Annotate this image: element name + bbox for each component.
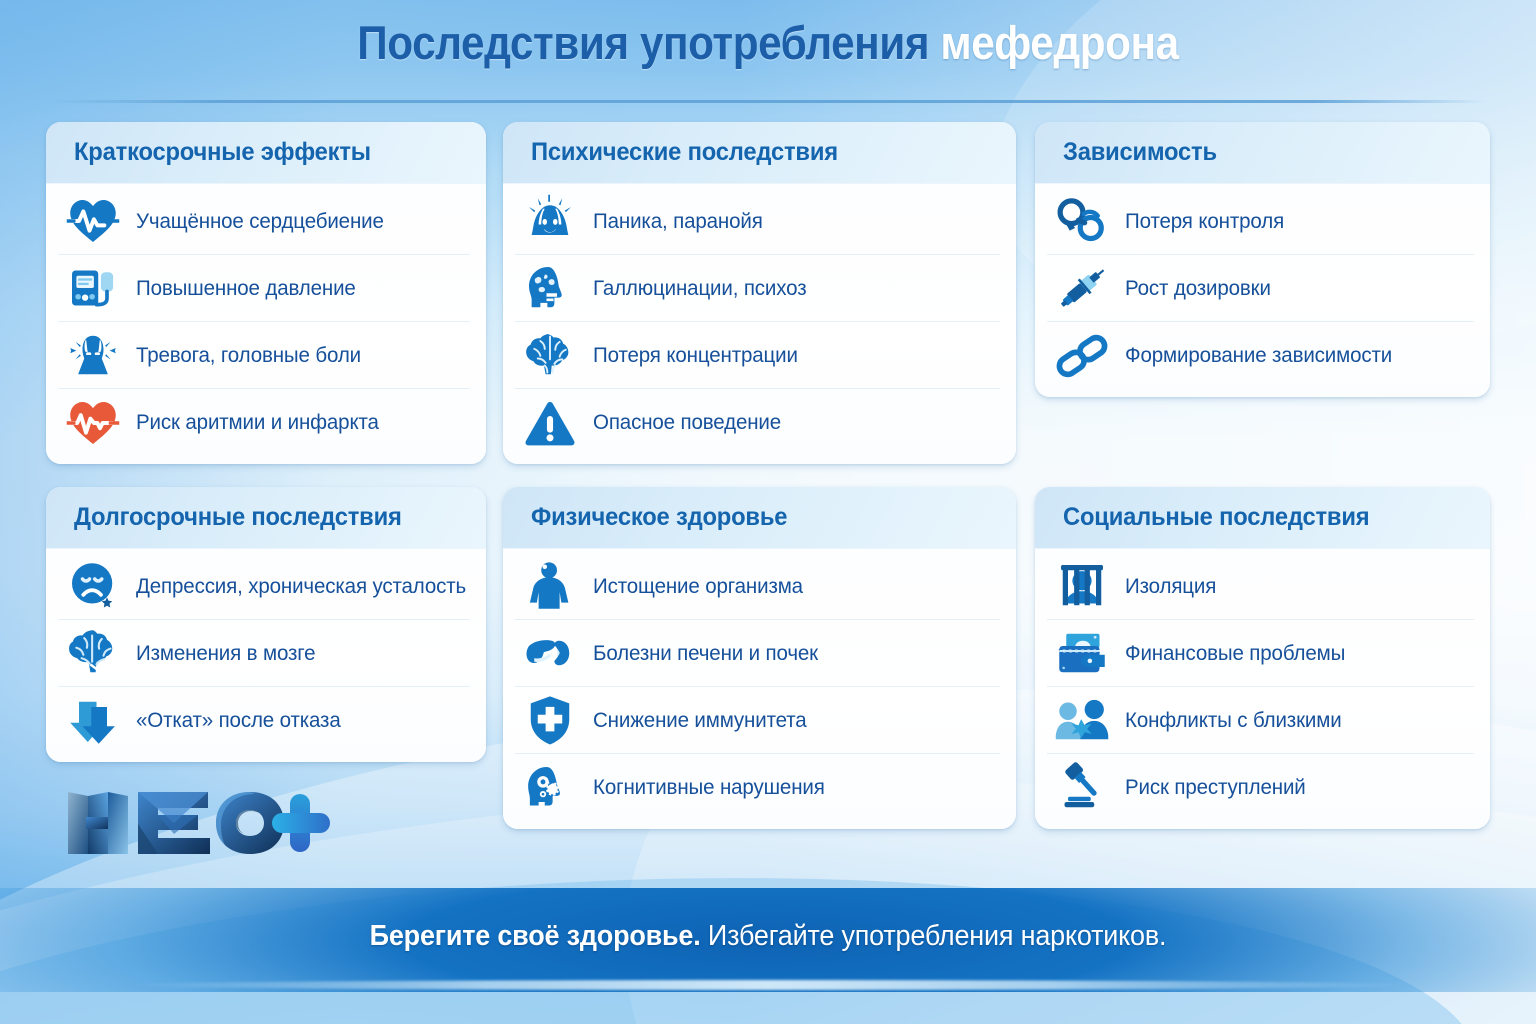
footer-message-regular: Избегайте употребления наркотиков.	[701, 920, 1167, 952]
list-item[interactable]: Учащённое сердцебиение	[58, 188, 470, 255]
list-item[interactable]: Повышенное давление	[58, 255, 470, 322]
shield-cross-icon	[519, 689, 581, 751]
card-physical-header: Физическое здоровье	[503, 487, 1016, 549]
list-item[interactable]: Опасное поведение	[515, 389, 1000, 456]
card-long-term: Долгосрочные последствия Депрессия, хрон…	[46, 487, 486, 762]
blood-pressure-monitor-icon	[62, 257, 124, 319]
list-item[interactable]: «Откат» после отказа	[58, 687, 470, 754]
footer-gloss-line	[123, 980, 1413, 990]
card-social: Социальные последствия Изоляция Финансов…	[1035, 487, 1490, 829]
down-arrows-icon	[62, 690, 124, 752]
handcuffs-icon	[1051, 190, 1113, 252]
brain-change-icon	[62, 622, 124, 684]
card-dependence-body: Потеря контроля Рост дозировки Формирова…	[1035, 184, 1490, 397]
list-item-label: Потеря контроля	[1125, 209, 1284, 234]
card-short-term-heading: Краткосрочные эффекты	[74, 138, 371, 167]
panic-face-icon	[519, 190, 581, 252]
list-item-label: Потеря концентрации	[593, 343, 798, 368]
list-item-label: Рост дозировки	[1125, 276, 1271, 301]
list-item-label: Опасное поведение	[593, 410, 781, 435]
footer-message: Берегите своё здоровье. Избегайте употре…	[54, 920, 1482, 953]
list-item-label: Депрессия, хроническая усталость	[136, 574, 466, 599]
list-item[interactable]: Изоляция	[1047, 553, 1474, 620]
card-mental-heading: Психические последствия	[531, 138, 838, 167]
list-item-label: Галлюцинации, психоз	[593, 276, 806, 301]
sad-face-icon	[62, 555, 124, 617]
page-title: Последствия употребления мефедрона	[0, 18, 1536, 67]
thin-person-icon	[519, 555, 581, 617]
conflict-people-icon	[1051, 689, 1113, 751]
list-item[interactable]: Потеря контроля	[1047, 188, 1474, 255]
list-item-label: Истощение организма	[593, 574, 803, 599]
card-short-term: Краткосрочные эффекты Учащённое сердцеби…	[46, 122, 486, 464]
list-item-label: Изменения в мозге	[136, 641, 315, 666]
syringe-icon	[1051, 257, 1113, 319]
page-title-accent: мефедрона	[940, 16, 1178, 69]
list-item-label: Финансовые проблемы	[1125, 641, 1345, 666]
heart-arrhythmia-alert-icon	[62, 392, 124, 454]
list-item[interactable]: Снижение иммунитета	[515, 687, 1000, 754]
list-item[interactable]: Риск преступлений	[1047, 754, 1474, 821]
card-physical: Физическое здоровье Истощение организма …	[503, 487, 1016, 829]
warning-triangle-icon	[519, 392, 581, 454]
card-dependence: Зависимость Потеря контроля Рост дозиров…	[1035, 122, 1490, 397]
headache-person-icon	[62, 324, 124, 386]
list-item-label: Риск преступлений	[1125, 775, 1306, 800]
list-item[interactable]: Финансовые проблемы	[1047, 620, 1474, 687]
list-item-label: Паника, паранойя	[593, 209, 763, 234]
chain-link-icon	[1051, 325, 1113, 387]
list-item[interactable]: Депрессия, хроническая усталость	[58, 553, 470, 620]
card-social-header: Социальные последствия	[1035, 487, 1490, 549]
card-social-body: Изоляция Финансовые проблемы Конфликты с…	[1035, 549, 1490, 829]
list-item-label: Тревога, головные боли	[136, 343, 361, 368]
list-item[interactable]: Риск аритмии и инфаркта	[58, 389, 470, 456]
card-mental-header: Психические последствия	[503, 122, 1016, 184]
card-long-term-body: Депрессия, хроническая усталость Изменен…	[46, 549, 486, 762]
list-item-label: Изоляция	[1125, 574, 1216, 599]
list-item[interactable]: Когнитивные нарушения	[515, 754, 1000, 821]
card-short-term-body: Учащённое сердцебиение Повышенное давлен…	[46, 184, 486, 464]
card-dependence-header: Зависимость	[1035, 122, 1490, 184]
liver-kidney-icon	[519, 622, 581, 684]
list-item[interactable]: Болезни печени и почек	[515, 620, 1000, 687]
list-item-label: «Откат» после отказа	[136, 708, 341, 733]
list-item-label: Риск аритмии и инфаркта	[136, 410, 379, 435]
title-divider	[48, 100, 1488, 103]
list-item[interactable]: Рост дозировки	[1047, 255, 1474, 322]
list-item-label: Снижение иммунитета	[593, 708, 807, 733]
head-gears-icon	[519, 757, 581, 819]
brain-icon	[519, 324, 581, 386]
card-long-term-heading: Долгосрочные последствия	[74, 503, 402, 532]
list-item[interactable]: Конфликты с близкими	[1047, 687, 1474, 754]
card-mental-body: Паника, паранойя Галлюцинации, психоз По…	[503, 184, 1016, 464]
neo-plus-logo[interactable]	[62, 784, 334, 862]
wallet-icon	[1051, 622, 1113, 684]
list-item-label: Болезни печени и почек	[593, 641, 818, 666]
card-short-term-header: Краткосрочные эффекты	[46, 122, 486, 184]
prison-bars-icon	[1051, 555, 1113, 617]
list-item[interactable]: Галлюцинации, психоз	[515, 255, 1000, 322]
list-item-label: Учащённое сердцебиение	[136, 209, 384, 234]
heart-pulse-icon	[62, 190, 124, 252]
list-item-label: Повышенное давление	[136, 276, 356, 301]
footer-message-bold: Берегите своё здоровье.	[370, 920, 701, 952]
gavel-icon	[1051, 757, 1113, 819]
card-dependence-heading: Зависимость	[1063, 138, 1217, 167]
list-item[interactable]: Формирование зависимости	[1047, 322, 1474, 389]
list-item-label: Формирование зависимости	[1125, 343, 1392, 368]
head-hallucination-icon	[519, 257, 581, 319]
list-item[interactable]: Изменения в мозге	[58, 620, 470, 687]
card-physical-heading: Физическое здоровье	[531, 503, 787, 532]
list-item[interactable]: Потеря концентрации	[515, 322, 1000, 389]
card-social-heading: Социальные последствия	[1063, 503, 1369, 532]
card-mental: Психические последствия Паника, паранойя…	[503, 122, 1016, 464]
card-physical-body: Истощение организма Болезни печени и поч…	[503, 549, 1016, 829]
list-item-label: Когнитивные нарушения	[593, 775, 825, 800]
card-long-term-header: Долгосрочные последствия	[46, 487, 486, 549]
page-title-main: Последствия употребления	[357, 16, 940, 69]
list-item[interactable]: Паника, паранойя	[515, 188, 1000, 255]
list-item[interactable]: Тревога, головные боли	[58, 322, 470, 389]
list-item[interactable]: Истощение организма	[515, 553, 1000, 620]
list-item-label: Конфликты с близкими	[1125, 708, 1342, 733]
